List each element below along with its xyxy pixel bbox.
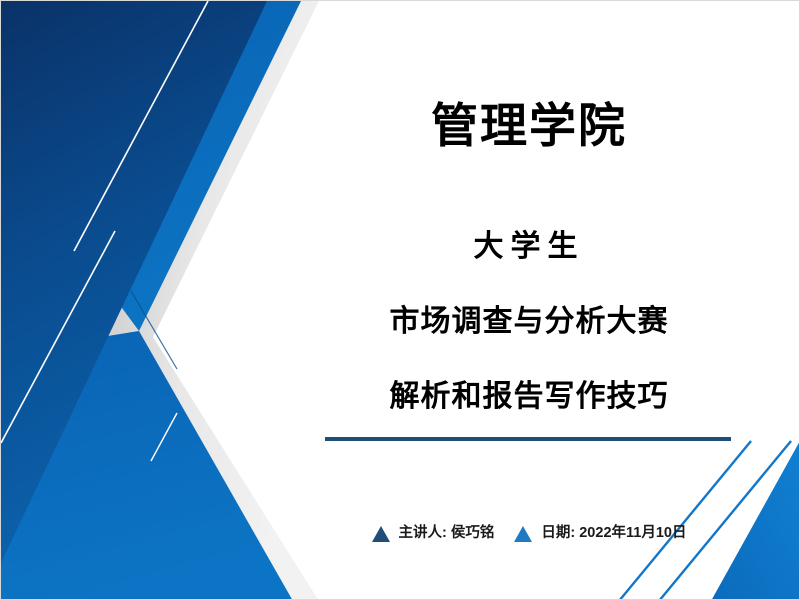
footer-meta: 主讲人: 侯巧铭 日期: 2022年11月10日 [301, 525, 757, 541]
date-label: 日期: 2022年11月10日 [541, 526, 686, 541]
page-title: 管理学院 [301, 99, 757, 153]
slide-content: 管理学院 大学生 市场调查与分析大赛 解析和报告写作技巧 主讲人: 侯巧铭 日期… [1, 1, 800, 600]
subtitle-line-3: 解析和报告写作技巧 [301, 379, 757, 415]
triangle-up-icon-speaker [372, 526, 390, 542]
slide-canvas: 管理学院 大学生 市场调查与分析大赛 解析和报告写作技巧 主讲人: 侯巧铭 日期… [0, 0, 800, 600]
horizontal-divider [325, 437, 731, 441]
subtitle-line-1: 大学生 [301, 229, 757, 265]
speaker-label: 主讲人: 侯巧铭 [399, 526, 495, 541]
triangle-up-icon-date [514, 526, 532, 542]
subtitle-line-2: 市场调查与分析大赛 [301, 304, 757, 340]
